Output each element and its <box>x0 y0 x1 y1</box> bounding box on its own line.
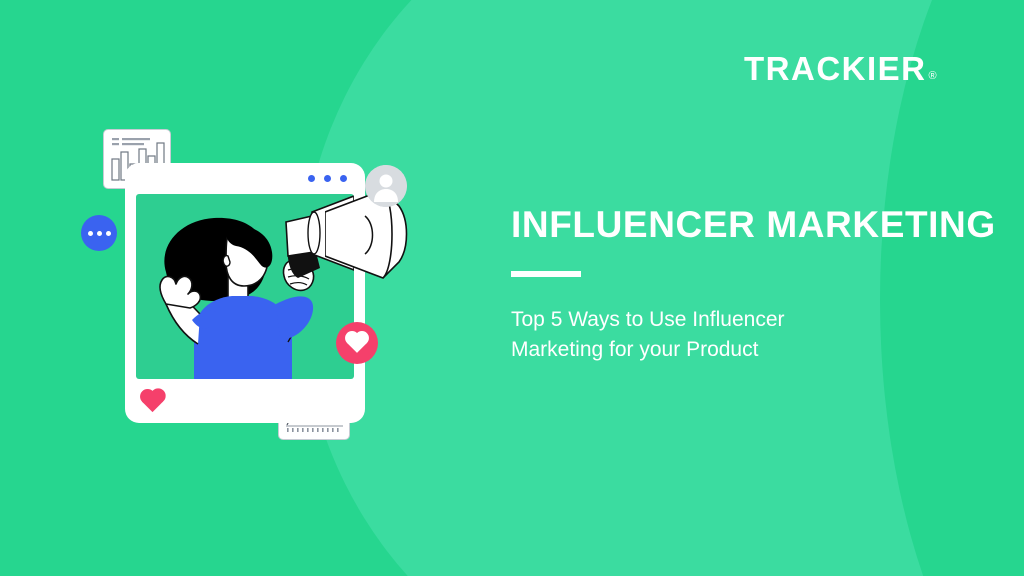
heart-icon <box>347 333 367 353</box>
user-avatar-icon <box>365 165 407 207</box>
influencer-figure <box>136 194 354 379</box>
post-topbar <box>125 163 365 193</box>
profile-badge[interactable] <box>365 165 407 207</box>
title-divider <box>511 271 581 277</box>
heart-icon[interactable] <box>142 390 163 411</box>
ellipsis-dot-icon <box>106 231 111 236</box>
more-options-badge[interactable] <box>81 215 117 251</box>
banner-canvas: TRACKIER ® INFLUENCER MARKETING Top 5 Wa… <box>0 0 1024 576</box>
like-badge[interactable] <box>336 322 378 364</box>
illustration-influencer-with-megaphone <box>70 110 415 455</box>
page-title: INFLUENCER MARKETING <box>511 205 981 246</box>
text-column: INFLUENCER MARKETING Top 5 Ways to Use I… <box>511 205 981 366</box>
post-dot-icon <box>340 175 347 182</box>
post-footer <box>125 379 365 423</box>
megaphone-cone-overflow <box>325 190 417 280</box>
post-dot-icon <box>308 175 315 182</box>
post-dot-icon <box>324 175 331 182</box>
registered-trademark-icon: ® <box>929 71 937 82</box>
page-subtitle: Top 5 Ways to Use Influencer Marketing f… <box>511 305 841 366</box>
ellipsis-dot-icon <box>97 231 102 236</box>
logo-wordmark: TRACKIER <box>744 52 927 85</box>
ellipsis-dot-icon <box>88 231 93 236</box>
trackier-logo: TRACKIER ® <box>744 52 937 85</box>
post-media-area <box>136 194 354 379</box>
